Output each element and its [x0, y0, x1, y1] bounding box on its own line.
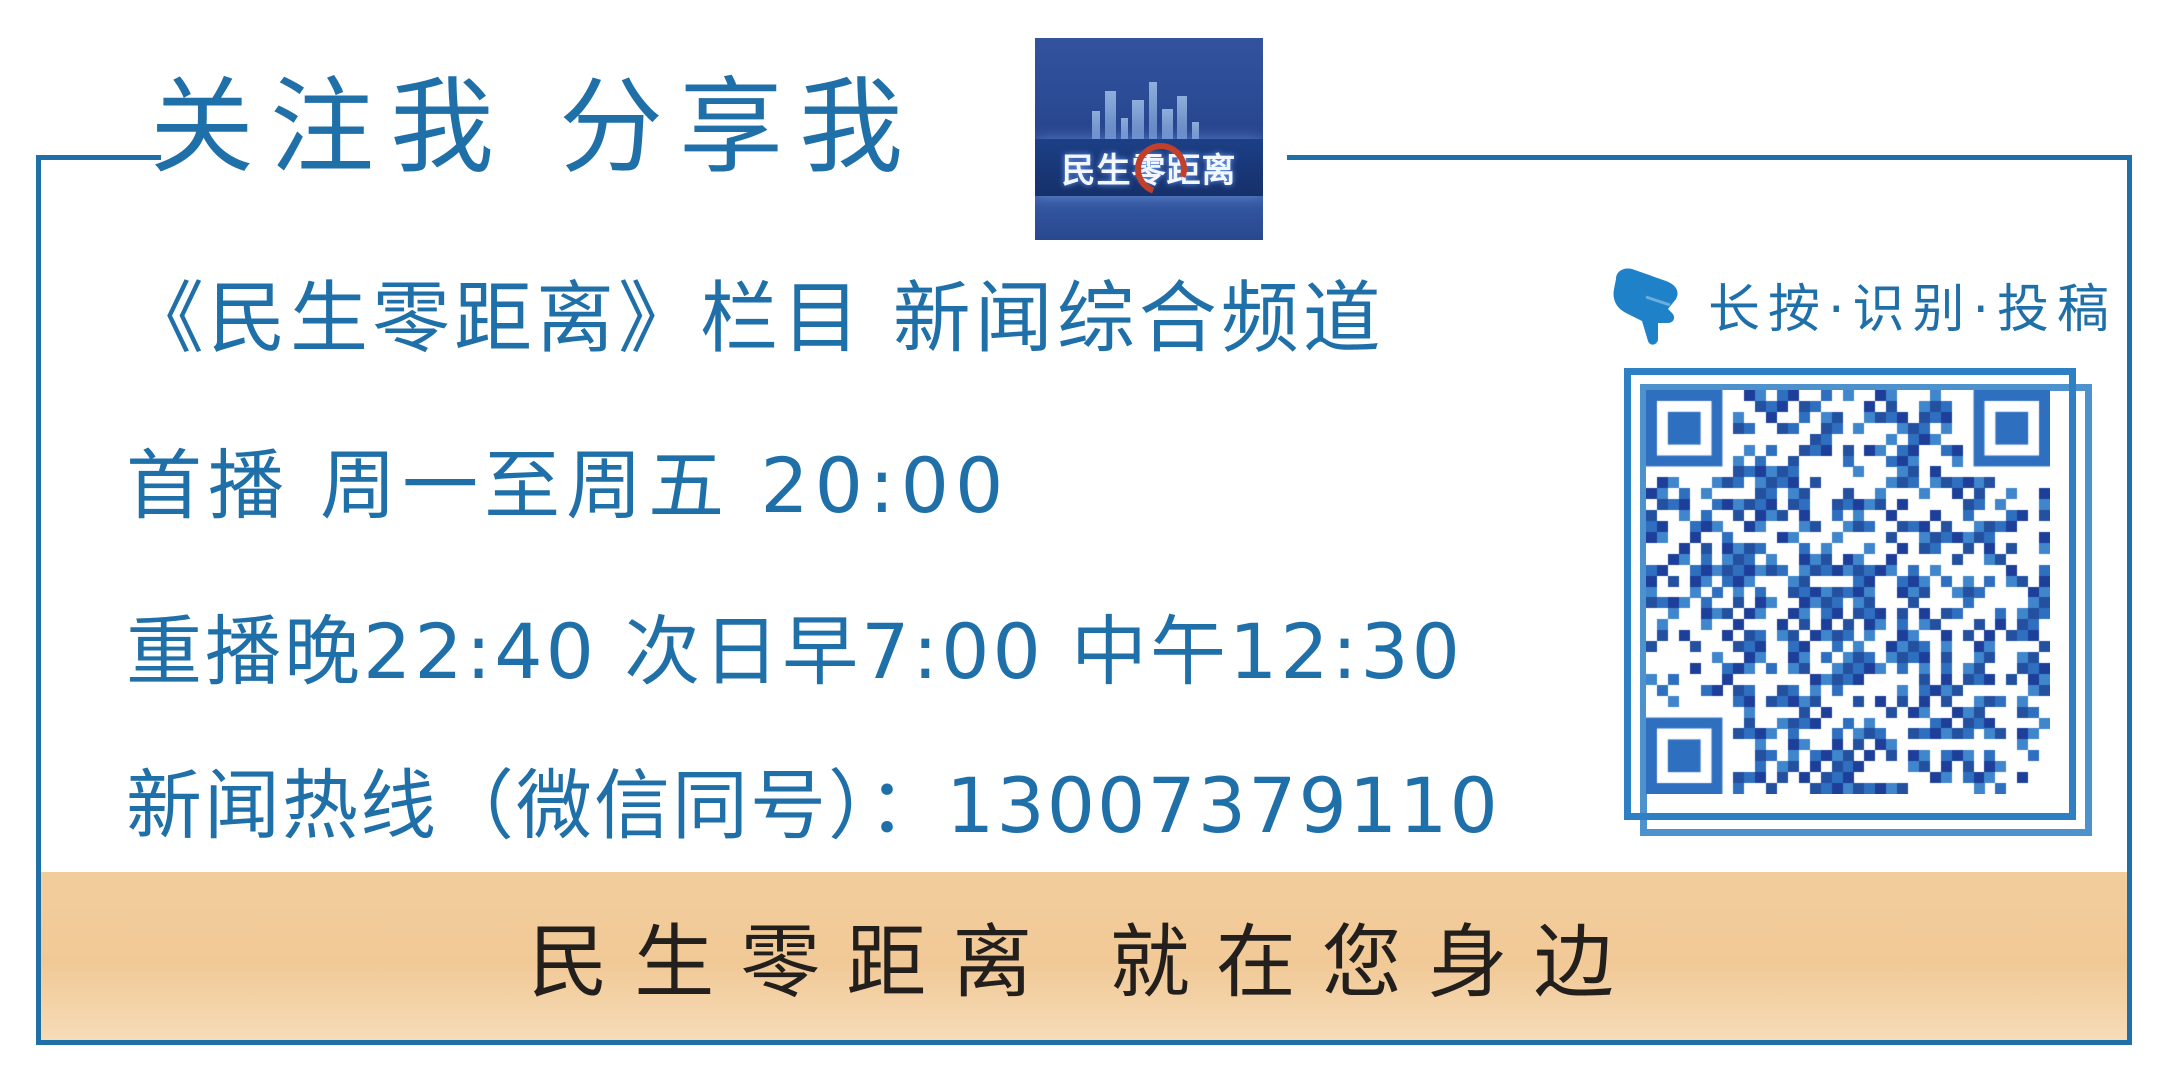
slogan-banner: 民生零距离 就在您身边 [41, 872, 2127, 1040]
channel-line: 《民生零距离》栏目 新闻综合频道 [126, 256, 1385, 368]
slogan-text: 民生零距离 就在您身边 [528, 898, 1639, 1014]
pointing-hand-icon [1610, 261, 1684, 347]
frame-border-top-left [36, 155, 161, 160]
qr-caption-row: 长按·识别·投稿 [1610, 258, 2110, 350]
qr-caption-text: 长按·识别·投稿 [1708, 267, 2117, 342]
rerun-schedule-line: 重播晚22:40 次日早7:00 中午12:30 [126, 590, 1463, 700]
qr-canvas-wrap [1646, 390, 2050, 794]
page-title: 关注我 分享我 [150, 62, 1010, 192]
hotline-line: 新闻热线（微信同号）：13007379110 [126, 744, 1500, 854]
program-logo: 民生零距离 [1035, 38, 1263, 240]
qr-code[interactable] [1624, 368, 2076, 820]
qr-block: 长按·识别·投稿 [1610, 258, 2110, 820]
premiere-schedule-line: 首播 周一至周五 20:00 [126, 424, 1009, 534]
frame-border-right [2127, 155, 2132, 1045]
frame-border-bottom [36, 1040, 2132, 1045]
qr-matrix [1646, 390, 2050, 794]
frame-border-top-right [1287, 155, 2132, 160]
